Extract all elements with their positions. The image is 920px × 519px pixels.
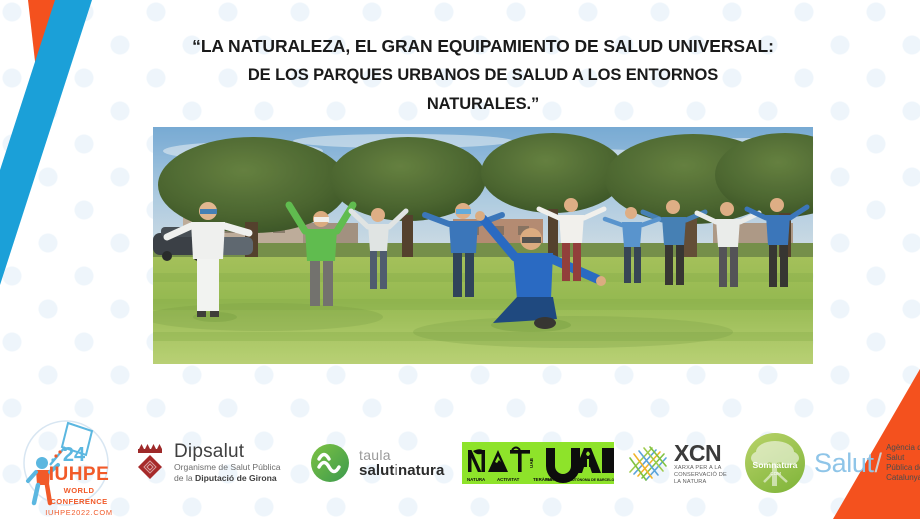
logo-iuhpe: 24 IUHPE WORLD CONFERENCE IUHPE2022.COM [16, 417, 116, 509]
iuhpe-edition-number: 24 [63, 444, 86, 466]
page-title: “LA NATURALEZA, EL GRAN EQUIPAMIENTO DE … [138, 32, 828, 119]
dipsalut-crest-icon [134, 441, 166, 485]
nat-word-activitat: ACTIVITAT [497, 477, 520, 482]
salut-separator: / [875, 448, 883, 479]
dipsalut-sub2-prefix: de la [174, 473, 195, 483]
xcn-acronym: XCN [674, 441, 727, 465]
dipsalut-subtitle-1: Organisme de Salut Pública [174, 462, 281, 473]
taula-circle-icon [310, 443, 350, 483]
dipsalut-sub2-bold: Diputació de Girona [195, 473, 277, 483]
xcn-subtitle-2: CONSERVACIÓ DE [674, 472, 727, 479]
xcn-subtitle-3: LA NATURA [674, 479, 727, 486]
logo-dipsalut: Dipsalut Organisme de Salut Pública de l… [134, 435, 294, 491]
nat-word-natura: NATURA [467, 477, 486, 482]
outdoor-group-exercise-photo [153, 127, 813, 364]
taula-word-salut: salut [359, 462, 395, 479]
logo-taula-salut-i-natura: taula salutinatura [310, 438, 450, 488]
dipsalut-name: Dipsalut [174, 442, 281, 462]
somnatura-name: Somnatura [753, 460, 798, 470]
somnatura-domain: .COM [769, 471, 781, 476]
taula-line-1: taula [359, 448, 444, 463]
taula-word-natura: natura [398, 462, 444, 479]
iuhpe-acronym: IUHPE [42, 465, 116, 485]
logo-somnatura: Somnatura .COM [744, 432, 806, 494]
salut-subtitle-2: Pública de Catalunya [886, 463, 920, 483]
logo-nat-uab: UAB NATURA ACTIVITAT TERÀPIA UNIVERSITAT… [462, 442, 614, 484]
xcn-subtitle-1: XARXA PER A LA [674, 465, 727, 472]
uab-subtitle: UNIVERSITAT AUTÒNOMA DE BARCELONA [546, 477, 614, 482]
title-line-3: NATURALES.” [138, 90, 828, 119]
logo-salut-generalitat: Salut / Agència de Salut Pública de Cata… [814, 442, 920, 484]
nat-uab-logo-graphic: UAB NATURA ACTIVITAT TERÀPIA UNIVERSITAT… [462, 442, 614, 484]
iuhpe-tagline: WORLD CONFERENCE [42, 485, 116, 507]
orange-triangle-decoration-top-left [0, 0, 120, 110]
slide-photo [153, 127, 813, 364]
salut-name: Salut [814, 449, 874, 477]
title-line-1: “LA NATURALEZA, EL GRAN EQUIPAMIENTO DE … [138, 32, 828, 61]
dipsalut-subtitle-2: de la Diputació de Girona [174, 473, 281, 484]
logo-xcn: XCN XARXA PER A LA CONSERVACIÓ DE LA NAT… [626, 439, 736, 487]
salut-subtitle-1: Agència de Salut [886, 443, 920, 463]
xcn-mesh-icon [626, 442, 668, 484]
title-line-2: DE LOS PARQUES URBANOS DE SALUD A LOS EN… [138, 61, 828, 90]
iuhpe-website: IUHPE2022.COM [42, 507, 116, 518]
nat-vertical-uab: UAB [529, 457, 534, 468]
taula-line-2: salutinatura [359, 463, 444, 479]
sponsor-logo-strip: 24 IUHPE WORLD CONFERENCE IUHPE2022.COM … [0, 407, 920, 519]
somnatura-circle-icon: Somnatura .COM [744, 432, 806, 494]
slide-canvas: “LA NATURALEZA, EL GRAN EQUIPAMIENTO DE … [0, 0, 920, 519]
